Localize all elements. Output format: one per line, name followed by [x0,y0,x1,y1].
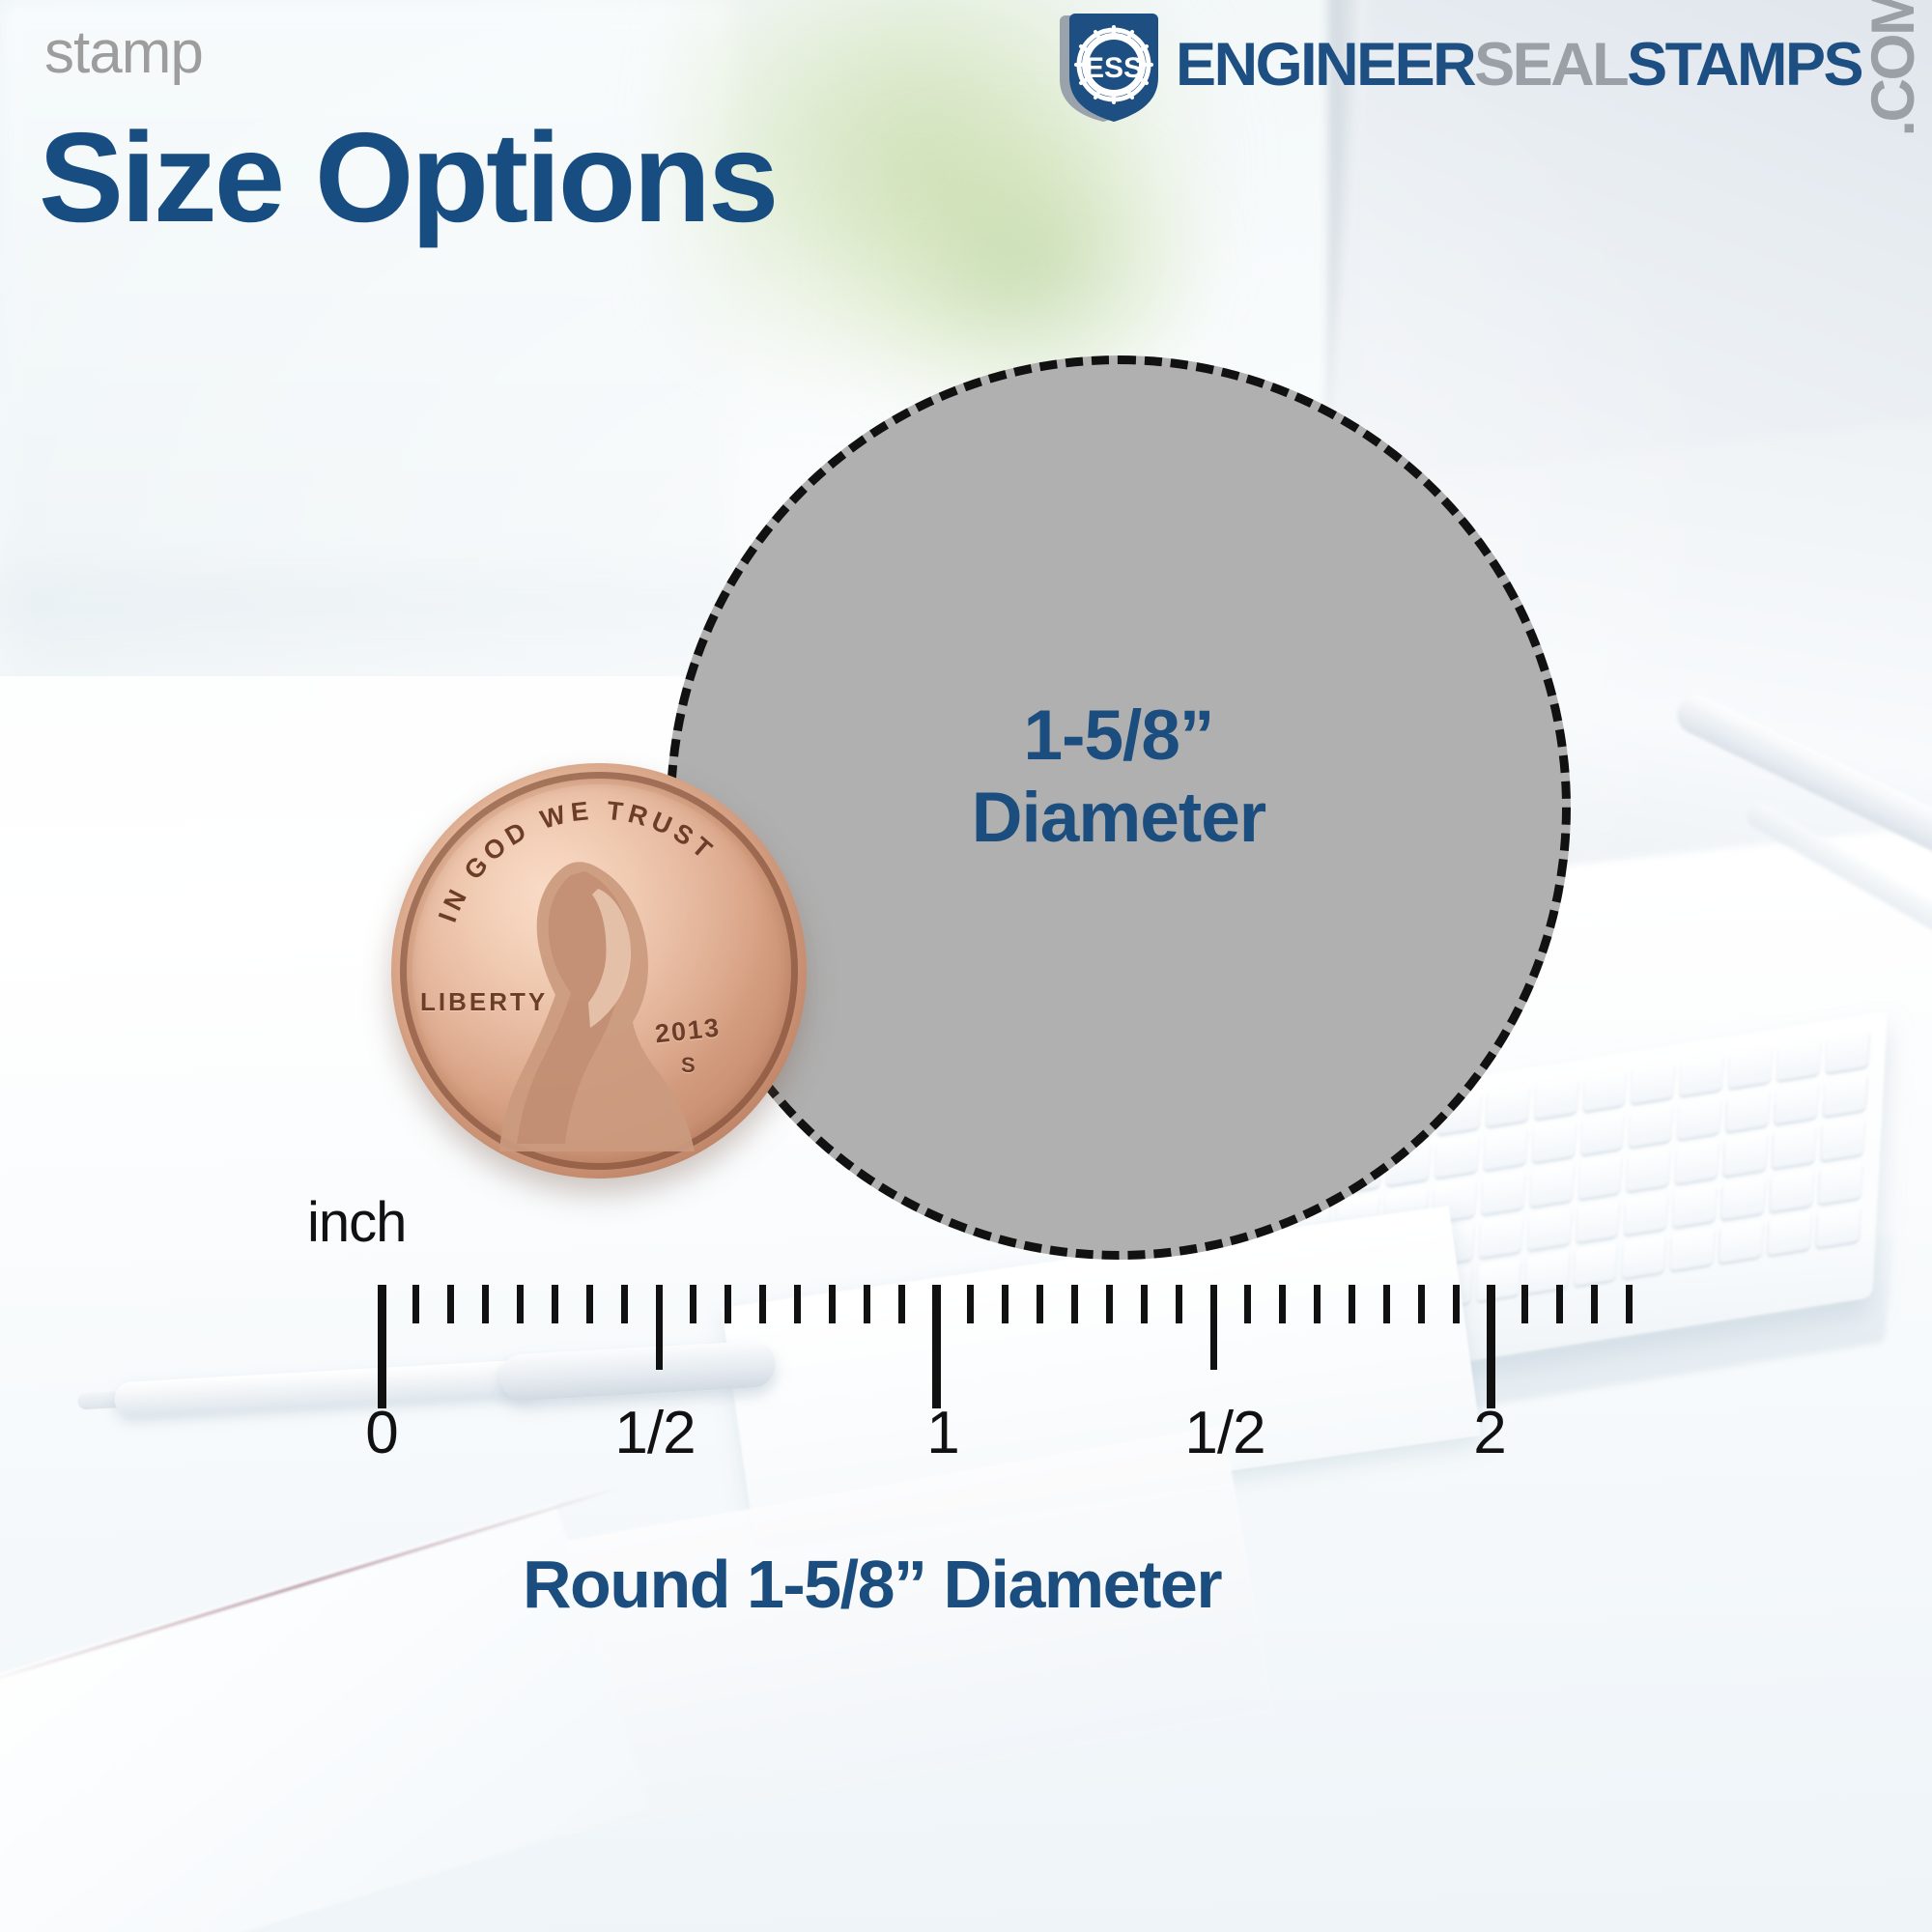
penny-liberty-text: LIBERTY [420,987,548,1017]
size-caption-text: Round 1-5/8” Diameter [523,1546,1221,1623]
ess-mark-text: ESS [1085,52,1143,84]
wordmark-dotcom: .COM [1863,0,1924,136]
brand-logo[interactable]: ESS ENGINEER SEAL STAMPS .COM [1052,6,1924,124]
size-caption: Round 1-5/8” Diameter [0,1546,1932,1623]
brand-wordmark: ENGINEER SEAL STAMPS .COM [1176,0,1924,142]
size-options-graphic: stamp Size Options [0,0,1932,1932]
penny-motto: IN GOD WE TRUST [391,763,807,1179]
stamp-size-value: 1-5/8” [1024,696,1214,775]
wordmark-engineer: ENGINEER [1176,35,1474,96]
svg-text:IN GOD WE TRUST: IN GOD WE TRUST [433,796,721,926]
wordmark-stamps: STAMPS [1627,35,1861,96]
wordmark-seal: SEAL [1474,35,1627,96]
ruler-unit-label: inch [307,1190,406,1255]
penny-reference: IN GOD WE TRUST LIBERTY 2013 S [391,763,807,1179]
kicker-label: stamp [44,23,203,83]
penny-mint-mark: S [681,1053,696,1078]
page-title: Size Options [39,114,776,241]
ess-shield-icon: ESS [1052,8,1166,122]
